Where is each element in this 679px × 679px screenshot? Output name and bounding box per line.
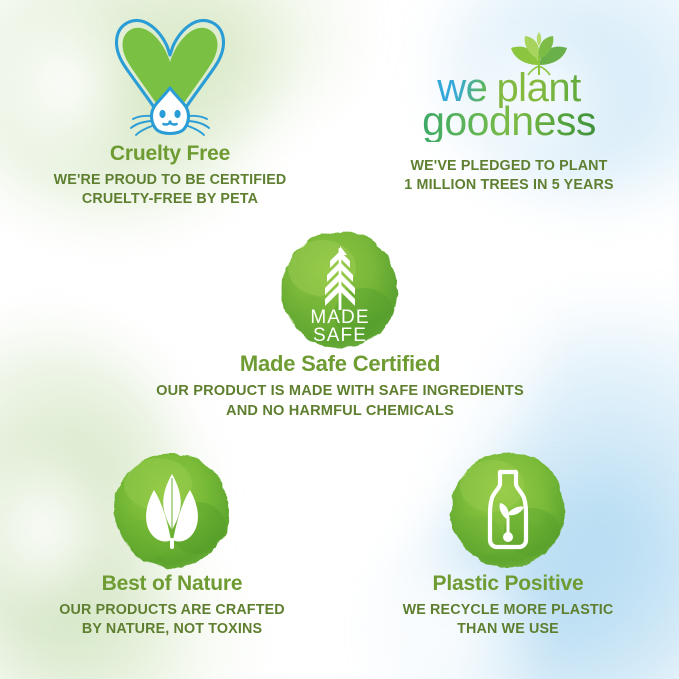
badge-description-we-plant-goodness: WE'VE PLEDGED TO PLANT 1 MILLION TREES I… <box>339 157 679 196</box>
badge-description-best-of-nature: OUR PRODUCTS ARE CRAFTED BY NATURE, NOT … <box>12 601 332 640</box>
plastic-positive-icon-wrap <box>348 446 668 572</box>
made-safe-seal-icon: MADE SAFE <box>278 228 402 352</box>
we-plant-goodness-logo-wrap: weplant goodness <box>339 6 679 142</box>
bottle-sprout-icon <box>446 448 570 572</box>
badge-we-plant-goodness: weplant goodness WE'VE PLEDGED TO PLANT … <box>339 6 679 196</box>
badge-cruelty-free: Cruelty Free WE'RE PROUD TO BE CERTIFIED… <box>0 6 340 210</box>
peta-bunny-heart-icon <box>95 10 245 142</box>
three-leaves-icon <box>110 448 234 572</box>
badge-made-safe: MADE SAFE Made Safe Certified OUR PRODUC… <box>150 222 530 422</box>
best-of-nature-icon-wrap <box>12 446 332 572</box>
badge-title-cruelty-free: Cruelty Free <box>0 142 340 165</box>
badge-title-best-of-nature: Best of Nature <box>12 572 332 595</box>
badges-grid: Cruelty Free WE'RE PROUD TO BE CERTIFIED… <box>0 0 679 679</box>
logo-line-2: goodness <box>422 101 596 142</box>
badge-title-made-safe: Made Safe Certified <box>150 352 530 376</box>
made-safe-icon-wrap: MADE SAFE <box>150 222 530 352</box>
badge-description-made-safe: OUR PRODUCT IS MADE WITH SAFE INGREDIENT… <box>150 382 530 421</box>
sprout-leaves-icon <box>507 32 571 76</box>
badge-plastic-positive: Plastic Positive WE RECYCLE MORE PLASTIC… <box>348 446 668 640</box>
we-plant-goodness-logo: weplant goodness <box>422 68 596 142</box>
badge-description-plastic-positive: WE RECYCLE MORE PLASTIC THAN WE USE <box>348 601 668 640</box>
logo-word-goodness: goodness <box>422 101 596 142</box>
badge-best-of-nature: Best of Nature OUR PRODUCTS ARE CRAFTED … <box>12 446 332 640</box>
made-safe-seal-line2: SAFE <box>313 325 367 346</box>
badge-title-plastic-positive: Plastic Positive <box>348 572 668 595</box>
cruelty-free-icon-wrap <box>0 6 340 142</box>
infographic-root: Cruelty Free WE'RE PROUD TO BE CERTIFIED… <box>0 0 679 679</box>
badge-description-cruelty-free: WE'RE PROUD TO BE CERTIFIED CRUELTY-FREE… <box>0 171 340 210</box>
